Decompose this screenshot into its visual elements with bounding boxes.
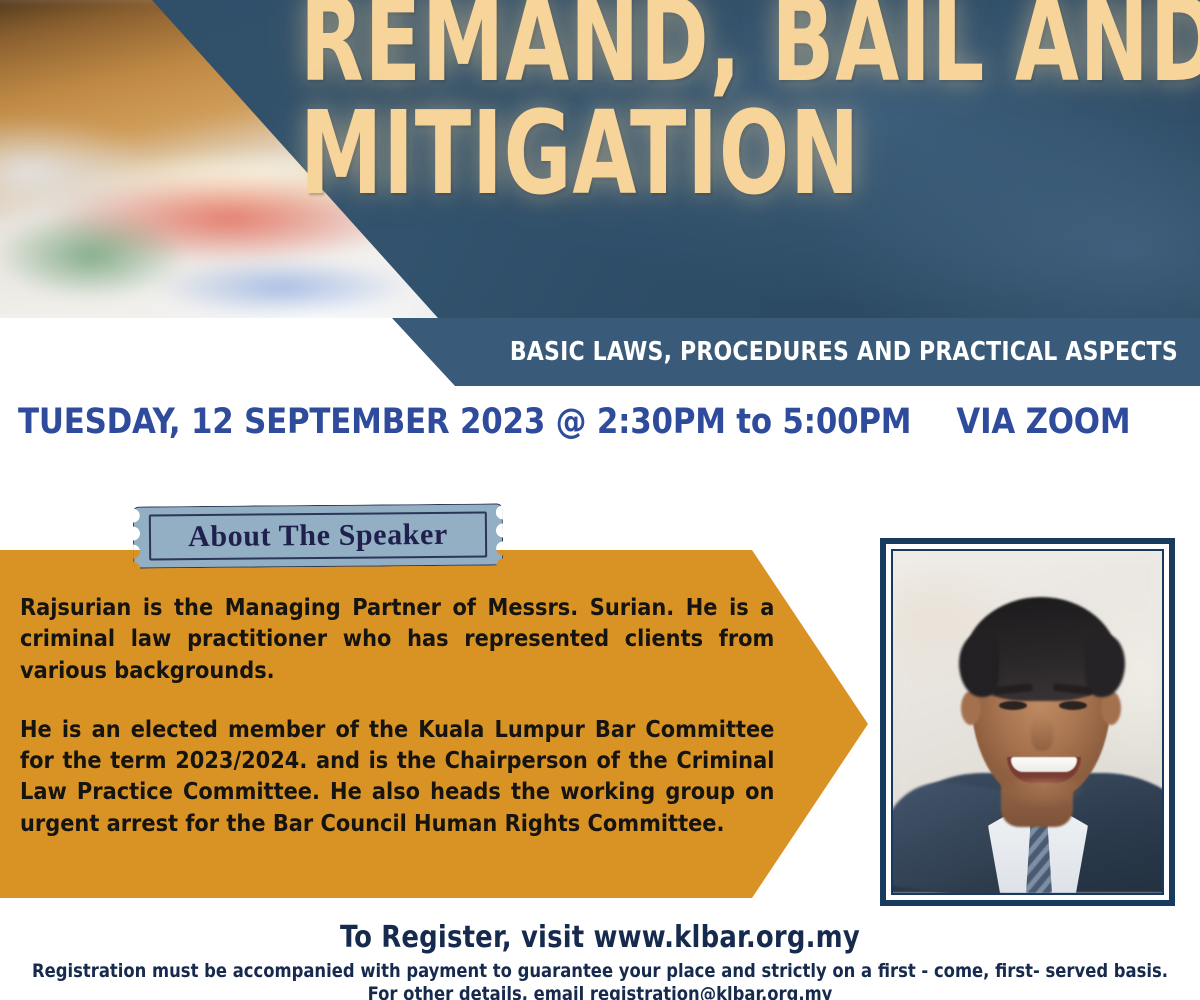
event-datetime-row: TUESDAY, 12 SEPTEMBER 2023 @ 2:30PM to 5… [18,402,1165,442]
portrait-teeth [1011,757,1077,772]
portrait-nose [1031,717,1053,751]
poster-title: REMAND, BAIL AND MITIGATION [300,0,1200,208]
speaker-bio-paragraph-1: Rajsurian is the Managing Partner of Mes… [20,592,774,686]
portrait-eye-right [1059,701,1087,710]
portrait-image [893,551,1162,893]
registration-note-line-2: For other details, email registration@kl… [24,983,1176,1000]
about-the-speaker-badge: About The Speaker [133,505,503,567]
title-line-2: MITIGATION [300,101,1020,208]
speaker-bio: Rajsurian is the Managing Partner of Mes… [20,592,774,839]
speaker-photo [891,549,1164,895]
footer: To Register, visit www.klbar.org.my Regi… [0,920,1200,1000]
speaker-bio-paragraph-2: He is an elected member of the Kuala Lum… [20,714,774,839]
registration-note-line-1: Registration must be accompanied with pa… [24,960,1176,983]
subtitle-text: BASIC LAWS, PROCEDURES AND PRACTICAL ASP… [510,318,1178,386]
title-line-1: REMAND, BAIL AND [300,0,1020,95]
event-poster: REMAND, BAIL AND MITIGATION BASIC LAWS, … [0,0,1200,1000]
event-date-time: TUESDAY, 12 SEPTEMBER 2023 @ 2:30PM to 5… [18,402,911,442]
speaker-photo-frame [880,538,1175,906]
portrait-chin [1003,779,1085,809]
register-link-text[interactable]: To Register, visit www.klbar.org.my [24,920,1176,955]
registration-note: Registration must be accompanied with pa… [24,960,1176,1000]
event-platform: VIA ZOOM [956,402,1130,442]
badge-label: About The Speaker [133,503,504,568]
portrait-eye-left [999,701,1027,710]
